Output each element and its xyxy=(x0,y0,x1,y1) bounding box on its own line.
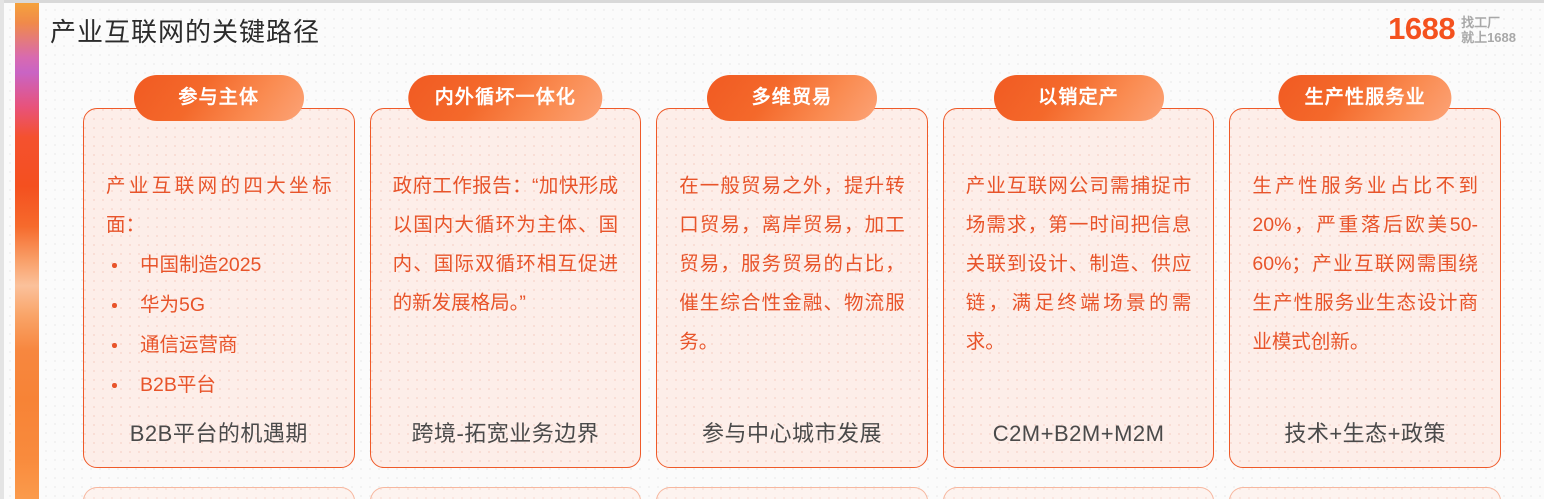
card-stub[interactable] xyxy=(943,487,1215,499)
card-bullet-list: 中国制造2025 华为5G 通信运营商 B2B平台 xyxy=(106,245,332,405)
browser-top-border xyxy=(0,0,1544,3)
slide-header: 产业互联网的关键路径 1688 找工厂 就上1688 xyxy=(46,10,1526,58)
card-producer-services[interactable]: 生产性服务业 生产性服务业占比不到20%，严重落后欧美50-60%；产业互联网需… xyxy=(1229,108,1501,468)
card-footer: 参与中心城市发展 xyxy=(657,419,927,449)
card-badge: 多维贸易 xyxy=(707,75,877,121)
card-stub[interactable] xyxy=(83,487,355,499)
card-body: 生产性服务业占比不到20%，严重落后欧美50-60%；产业互联网需围绕生产性服务… xyxy=(1252,167,1478,362)
card-dual-circulation[interactable]: 内外循坏一体化 政府工作报告：“加快形成以国内大循环为主体、国内、国际双循环相互… xyxy=(370,108,642,468)
card-badge: 以销定产 xyxy=(994,75,1164,121)
card-body: 政府工作报告：“加快形成以国内大循环为主体、国内、国际双循环相互促进的新发展格局… xyxy=(393,167,619,323)
card-paragraph: 生产性服务业占比不到20%，严重落后欧美50-60%；产业互联网需围绕生产性服务… xyxy=(1252,167,1478,362)
card-body: 在一般贸易之外，提升转口贸易，离岸贸易，加工贸易，服务贸易的占比，催生综合性金融… xyxy=(679,167,905,362)
card-footer: C2M+B2M+M2M xyxy=(944,419,1214,449)
card-intro: 产业互联网的四大坐标面： xyxy=(106,167,332,245)
card-footer: 跨境-拓宽业务边界 xyxy=(371,419,641,449)
card-stub[interactable] xyxy=(656,487,928,499)
card-sales-driven-production[interactable]: 以销定产 产业互联网公司需捕捉市场需求，第一时间把信息关联到设计、制造、供应链，… xyxy=(943,108,1215,468)
card-badge: 生产性服务业 xyxy=(1279,75,1452,121)
card-footer: 技术+生态+政策 xyxy=(1230,419,1500,449)
list-item: 华为5G xyxy=(106,285,332,325)
card-multidimensional-trade[interactable]: 多维贸易 在一般贸易之外，提升转口贸易，离岸贸易，加工贸易，服务贸易的占比，催生… xyxy=(656,108,928,468)
card-footer: B2B平台的机遇期 xyxy=(84,419,354,449)
list-item: 中国制造2025 xyxy=(106,245,332,285)
brand-slogan-line2: 就上1688 xyxy=(1461,30,1516,45)
card-stub[interactable] xyxy=(1229,487,1501,499)
slide-canvas: 产业互联网的关键路径 1688 找工厂 就上1688 参与主体 产业互联网的四大… xyxy=(0,0,1544,499)
cards-row-next xyxy=(83,487,1501,499)
list-item: B2B平台 xyxy=(106,365,332,405)
brand-logo: 1688 找工厂 就上1688 xyxy=(1388,12,1516,46)
left-accent-gradient-bar xyxy=(15,3,39,499)
card-paragraph: 政府工作报告：“加快形成以国内大循环为主体、国内、国际双循环相互促进的新发展格局… xyxy=(393,167,619,323)
card-body: 产业互联网公司需捕捉市场需求，第一时间把信息关联到设计、制造、供应链，满足终端场… xyxy=(966,167,1192,362)
card-badge: 内外循坏一体化 xyxy=(409,75,602,121)
list-item: 通信运营商 xyxy=(106,325,332,365)
card-stub[interactable] xyxy=(370,487,642,499)
card-badge: 参与主体 xyxy=(134,75,304,121)
browser-left-border xyxy=(0,0,4,499)
brand-number: 1688 xyxy=(1388,12,1455,46)
card-paragraph: 在一般贸易之外，提升转口贸易，离岸贸易，加工贸易，服务贸易的占比，催生综合性金融… xyxy=(679,167,905,362)
cards-row: 参与主体 产业互联网的四大坐标面： 中国制造2025 华为5G 通信运营商 B2… xyxy=(83,108,1501,468)
card-participants[interactable]: 参与主体 产业互联网的四大坐标面： 中国制造2025 华为5G 通信运营商 B2… xyxy=(83,108,355,468)
brand-slogan: 找工厂 就上1688 xyxy=(1461,13,1516,45)
page-title: 产业互联网的关键路径 xyxy=(50,12,320,52)
card-paragraph: 产业互联网公司需捕捉市场需求，第一时间把信息关联到设计、制造、供应链，满足终端场… xyxy=(966,167,1192,362)
brand-slogan-line1: 找工厂 xyxy=(1461,15,1516,30)
card-body: 产业互联网的四大坐标面： 中国制造2025 华为5G 通信运营商 B2B平台 xyxy=(106,167,332,405)
